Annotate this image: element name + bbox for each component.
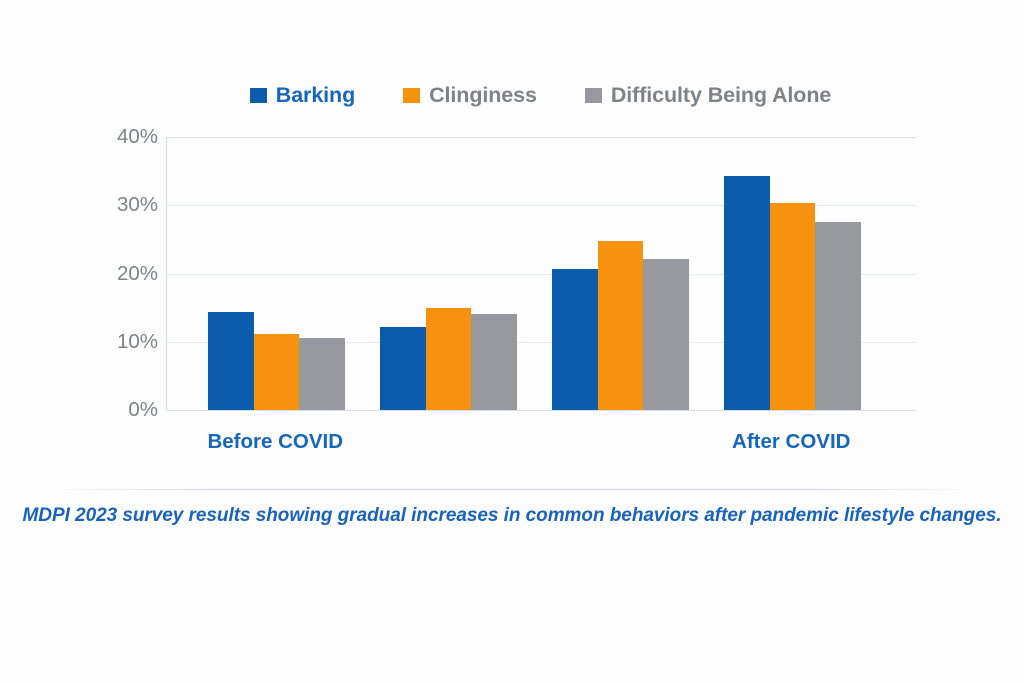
square-swatch-icon (403, 88, 420, 103)
bar[interactable] (552, 269, 598, 410)
bar[interactable] (770, 203, 816, 410)
x-axis-category-label: After COVID (732, 430, 850, 454)
bar[interactable] (254, 334, 300, 410)
square-swatch-icon (585, 88, 602, 103)
legend-item-difficulty-being-alone[interactable]: Difficulty Being Alone (585, 83, 831, 108)
bar[interactable] (299, 338, 345, 410)
y-axis-tick-label: 30% (100, 193, 158, 217)
y-axis-tick-label: 20% (100, 262, 158, 286)
legend-item-barking[interactable]: Barking (250, 83, 355, 108)
y-axis-tick-label: 10% (100, 330, 158, 354)
plot-area (166, 137, 915, 410)
legend-label-barking: Barking (276, 83, 355, 108)
bar[interactable] (643, 259, 689, 410)
legend-label-clinginess: Clinginess (429, 83, 537, 108)
legend-item-clinginess[interactable]: Clinginess (403, 83, 537, 108)
figure-caption: MDPI 2023 survey results showing gradual… (0, 505, 1024, 527)
y-axis-tick-label: 0% (100, 398, 158, 422)
bar[interactable] (208, 312, 254, 410)
legend-label-difficulty-being-alone: Difficulty Being Alone (611, 83, 831, 108)
gridline (167, 137, 916, 138)
bar[interactable] (426, 308, 472, 410)
chart-legend: Barking Clinginess Difficulty Being Alon… (166, 78, 915, 112)
gridline (167, 410, 916, 411)
y-axis-tick-label: 40% (100, 125, 158, 149)
bar[interactable] (471, 314, 517, 410)
y-axis-tick-labels: 0%10%20%30%40% (100, 137, 158, 410)
bar[interactable] (724, 176, 770, 410)
bar[interactable] (380, 327, 426, 410)
bar[interactable] (815, 222, 861, 410)
square-swatch-icon (250, 88, 267, 103)
chart-figure: Barking Clinginess Difficulty Being Alon… (0, 0, 1024, 683)
caption-divider (50, 489, 974, 490)
x-axis-category-label: Before COVID (207, 430, 343, 454)
bar[interactable] (598, 241, 644, 410)
